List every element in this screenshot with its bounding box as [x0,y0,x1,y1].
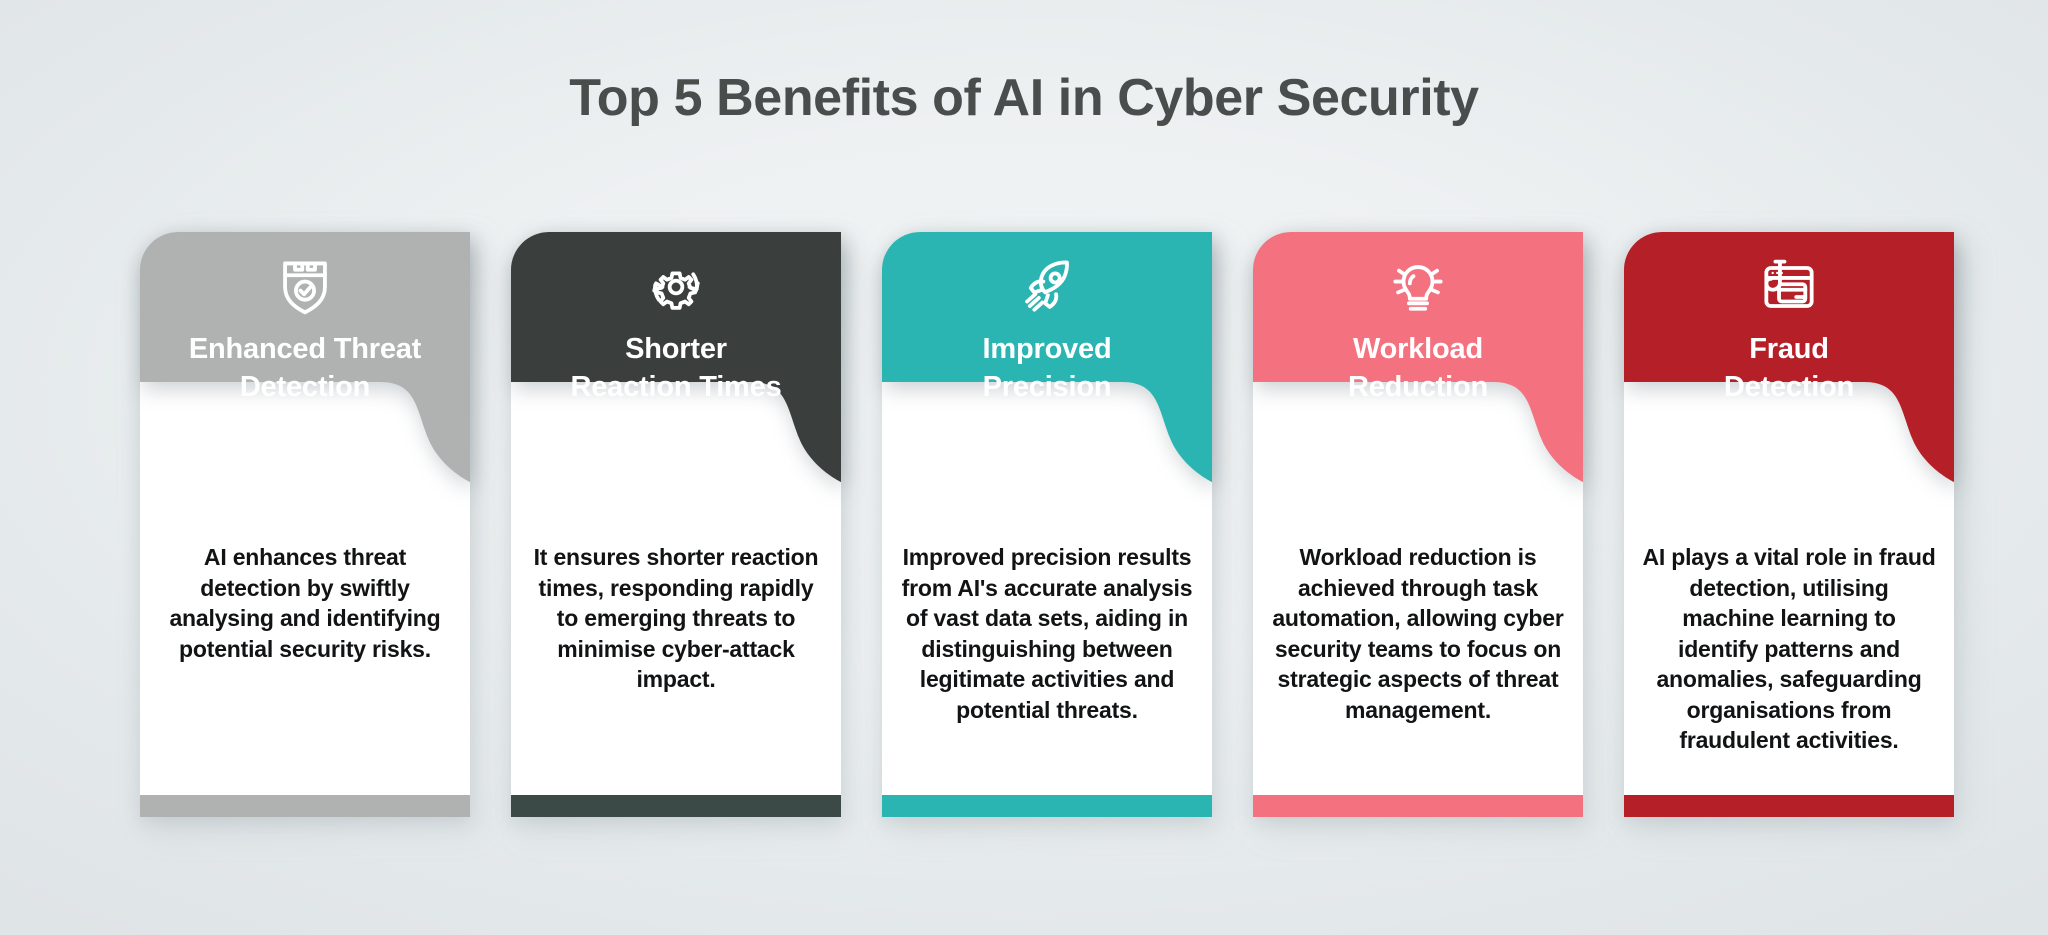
card-footer-bar [1253,795,1583,817]
card-description: Workload reduction is achieved through t… [1271,542,1565,725]
card-description: AI enhances threat detection by swiftly … [158,542,452,664]
benefit-card: Enhanced Threat Detection AI enhances th… [140,232,470,817]
benefit-card: Improved Precision Improved precision re… [882,232,1212,817]
infographic-stage: Top 5 Benefits of AI in Cyber Security E… [0,0,2048,935]
benefit-card: Shorter Reaction Times It ensures shorte… [511,232,841,817]
card-footer-bar [882,795,1212,817]
benefit-card: Fraud Detection AI plays a vital role in… [1624,232,1954,817]
benefit-card: Workload Reduction Workload reduction is… [1253,232,1583,817]
card-description: It ensures shorter reaction times, respo… [529,542,823,695]
card-description: Improved precision results from AI's acc… [900,542,1194,725]
card-header-block [511,232,841,482]
card-description: AI plays a vital role in fraud detection… [1642,542,1936,756]
benefit-cards-row: Enhanced Threat Detection AI enhances th… [140,232,1930,832]
card-header-block [1624,232,1954,482]
card-footer-bar [1624,795,1954,817]
card-footer-bar [140,795,470,817]
card-header-block [140,232,470,482]
page-title: Top 5 Benefits of AI in Cyber Security [0,68,2048,128]
card-footer-bar [511,795,841,817]
card-header-block [882,232,1212,482]
card-header-block [1253,232,1583,482]
